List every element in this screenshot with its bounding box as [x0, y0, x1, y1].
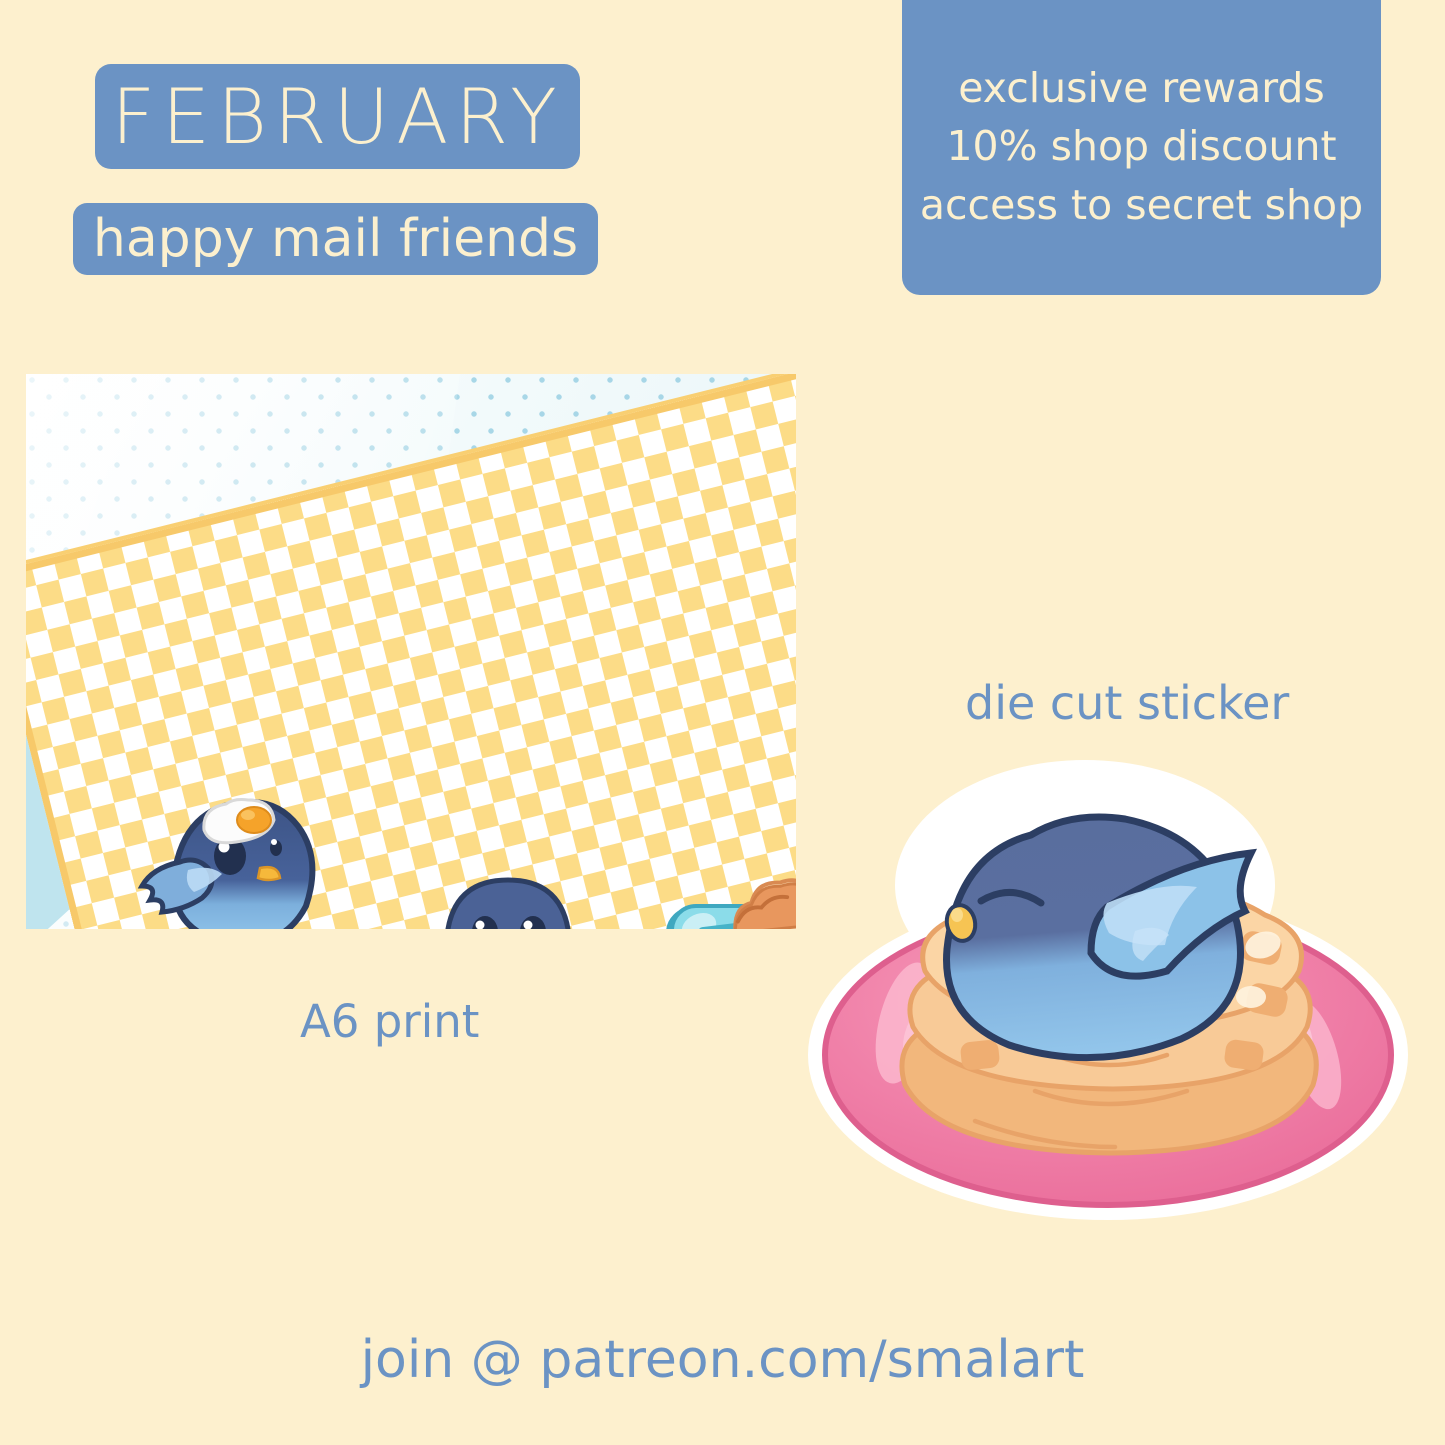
- die-cut-sticker-label: die cut sticker: [965, 676, 1289, 730]
- rewards-line-1: exclusive rewards: [958, 59, 1325, 117]
- die-cut-sticker-art: [795, 755, 1425, 1235]
- month-label: FEBRUARY: [111, 79, 563, 155]
- patreon-footer: join @ patreon.com/smalart: [0, 1330, 1445, 1390]
- a6-print-card: [26, 374, 796, 929]
- print-fried-egg-bird: [136, 786, 336, 929]
- print-donut-bird: [433, 874, 583, 929]
- rewards-line-2: 10% shop discount: [946, 117, 1336, 175]
- tagline-label: happy mail friends: [93, 213, 578, 265]
- tagline-badge: happy mail friends: [73, 203, 598, 275]
- rewards-panel: exclusive rewards 10% shop discount acce…: [902, 0, 1381, 295]
- rewards-line-3: access to secret shop: [920, 176, 1363, 234]
- month-badge: FEBRUARY: [95, 64, 580, 169]
- a6-print-label: A6 print: [300, 995, 479, 1048]
- poster-canvas: FEBRUARY happy mail friends exclusive re…: [0, 0, 1445, 1445]
